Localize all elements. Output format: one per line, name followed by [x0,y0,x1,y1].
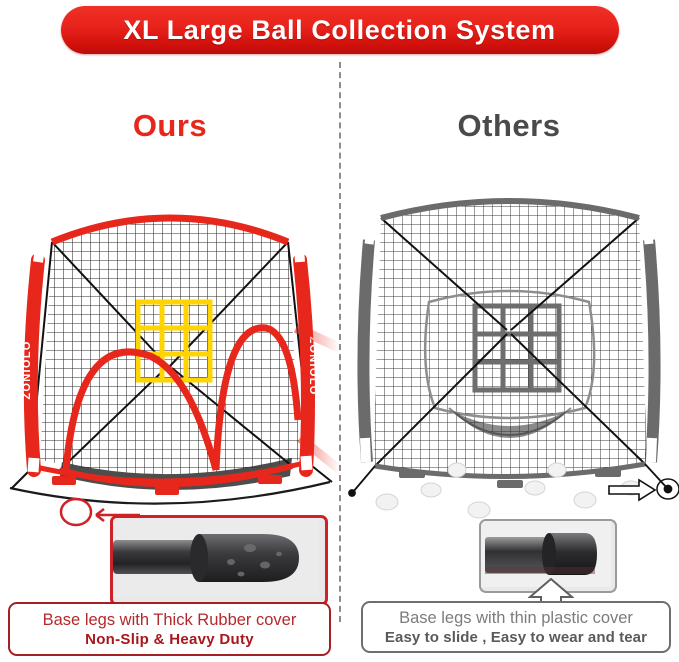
callout-circle [61,499,91,525]
title-banner: XL Large Ball Collection System [0,4,679,56]
ours-callout [0,470,340,540]
ours-caption-line2: Non-Slip & Heavy Duty [85,630,254,649]
title-text: XL Large Ball Collection System [123,15,555,46]
others-caption-box: Base legs with thin plastic cover Easy t… [361,601,671,653]
left-pole [363,222,372,462]
title-banner-pill: XL Large Ball Collection System [61,6,619,54]
right-pole [647,222,655,462]
callout-arrow-icon [96,509,110,521]
heading-ours: Ours [0,108,340,144]
heading-others: Others [339,108,679,144]
comparison-infographic: XL Large Ball Collection System Ours Oth… [0,0,679,662]
brand-text-right: ZONIOLO [307,336,319,395]
others-caption-line2: Easy to slide , Easy to wear and tear [385,628,647,647]
ours-caption-box: Base legs with Thick Rubber cover Non-Sl… [8,602,331,656]
ours-caption-line1: Base legs with Thick Rubber cover [43,610,297,630]
others-caption-line1: Base legs with thin plastic cover [399,608,633,628]
brand-text-left: ZONIOLO [21,340,33,399]
others-net-illustration [339,170,679,530]
